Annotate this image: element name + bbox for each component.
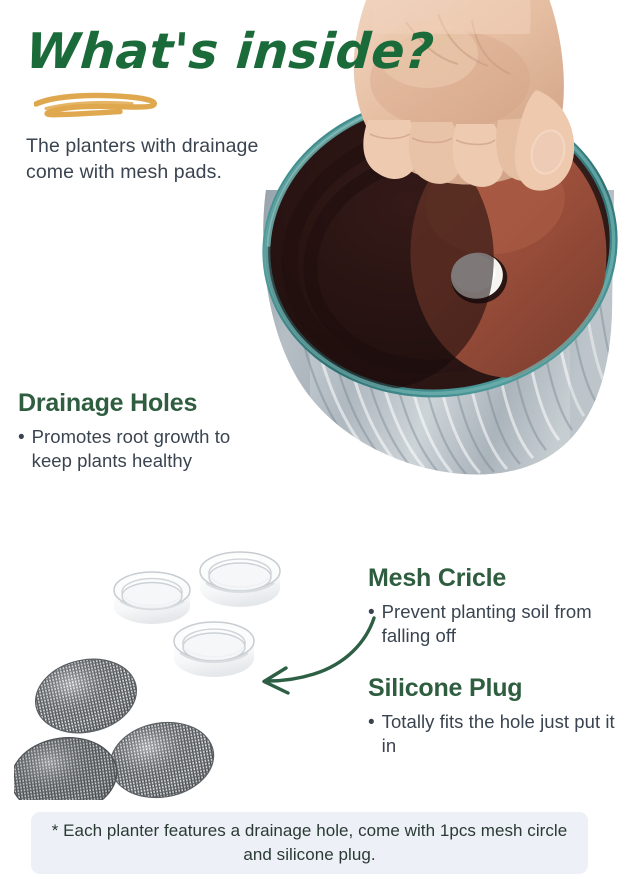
section-heading-plug: Silicone Plug: [368, 675, 618, 703]
bullet-plug: • Totally fits the hole just put it in: [368, 710, 618, 759]
mesh-circle: [14, 731, 122, 800]
bullet-dot-icon: •: [368, 710, 375, 735]
section-heading-mesh: Mesh Cricle: [368, 565, 618, 593]
page-title: What's inside?: [24, 26, 388, 77]
silicone-plug: [174, 622, 254, 677]
footer-note-text: * Each planter features a drainage hole,…: [31, 819, 588, 867]
bullet-text-mesh: Prevent planting soil from falling off: [382, 600, 618, 649]
bullet-text-plug: Totally fits the hole just put it in: [382, 710, 618, 759]
subtitle: The planters with drainage come with mes…: [26, 134, 296, 186]
section-heading-drainage: Drainage Holes: [18, 390, 258, 418]
mesh-circle: [104, 715, 219, 800]
mesh-circle: [29, 650, 144, 742]
section-mesh-circle: Mesh Cricle • Prevent planting soil from…: [368, 565, 618, 649]
section-silicone-plug: Silicone Plug • Totally fits the hole ju…: [368, 675, 618, 759]
footer-note: * Each planter features a drainage hole,…: [31, 812, 588, 874]
section-drainage-holes: Drainage Holes • Promotes root growth to…: [18, 390, 258, 474]
gold-brush-underline-icon: [34, 92, 164, 118]
bullet-dot-icon: •: [18, 425, 25, 450]
bullet-text-drainage: Promotes root growth to keep plants heal…: [32, 425, 258, 474]
bullet-dot-icon: •: [368, 600, 375, 625]
silicone-plug: [114, 572, 190, 624]
bullet-drainage: • Promotes root growth to keep plants he…: [18, 425, 258, 474]
bullet-mesh: • Prevent planting soil from falling off: [368, 600, 618, 649]
curved-left-arrow-icon: [248, 612, 380, 700]
silicone-plug: [200, 552, 280, 607]
title-block: What's inside? The planters with drainag…: [26, 26, 386, 77]
